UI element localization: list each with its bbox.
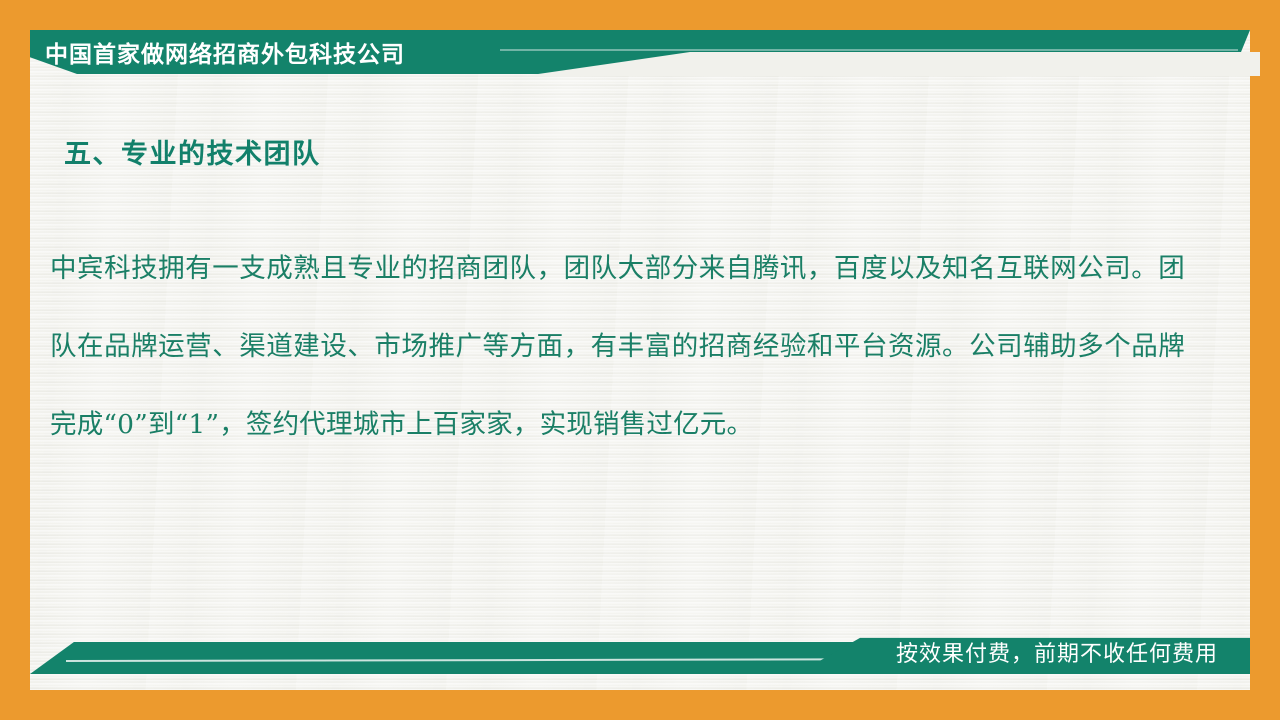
section-title: 五、专业的技术团队 (64, 132, 321, 171)
presentation-slide: 中国首家做网络招商外包科技公司 五、专业的技术团队 中宾科技拥有一支成熟且专业的… (0, 0, 1280, 720)
slide-footer-band: 按效果付费，前期不收任何费用 (30, 630, 1250, 690)
body-paragraph: 中宾科技拥有一支成熟且专业的招商团队，团队大部分来自腾讯，百度以及知名互联网公司… (50, 230, 1185, 464)
header-title: 中国首家做网络招商外包科技公司 (45, 30, 515, 74)
footer-tagline: 按效果付费，前期不收任何费用 (896, 630, 1218, 674)
